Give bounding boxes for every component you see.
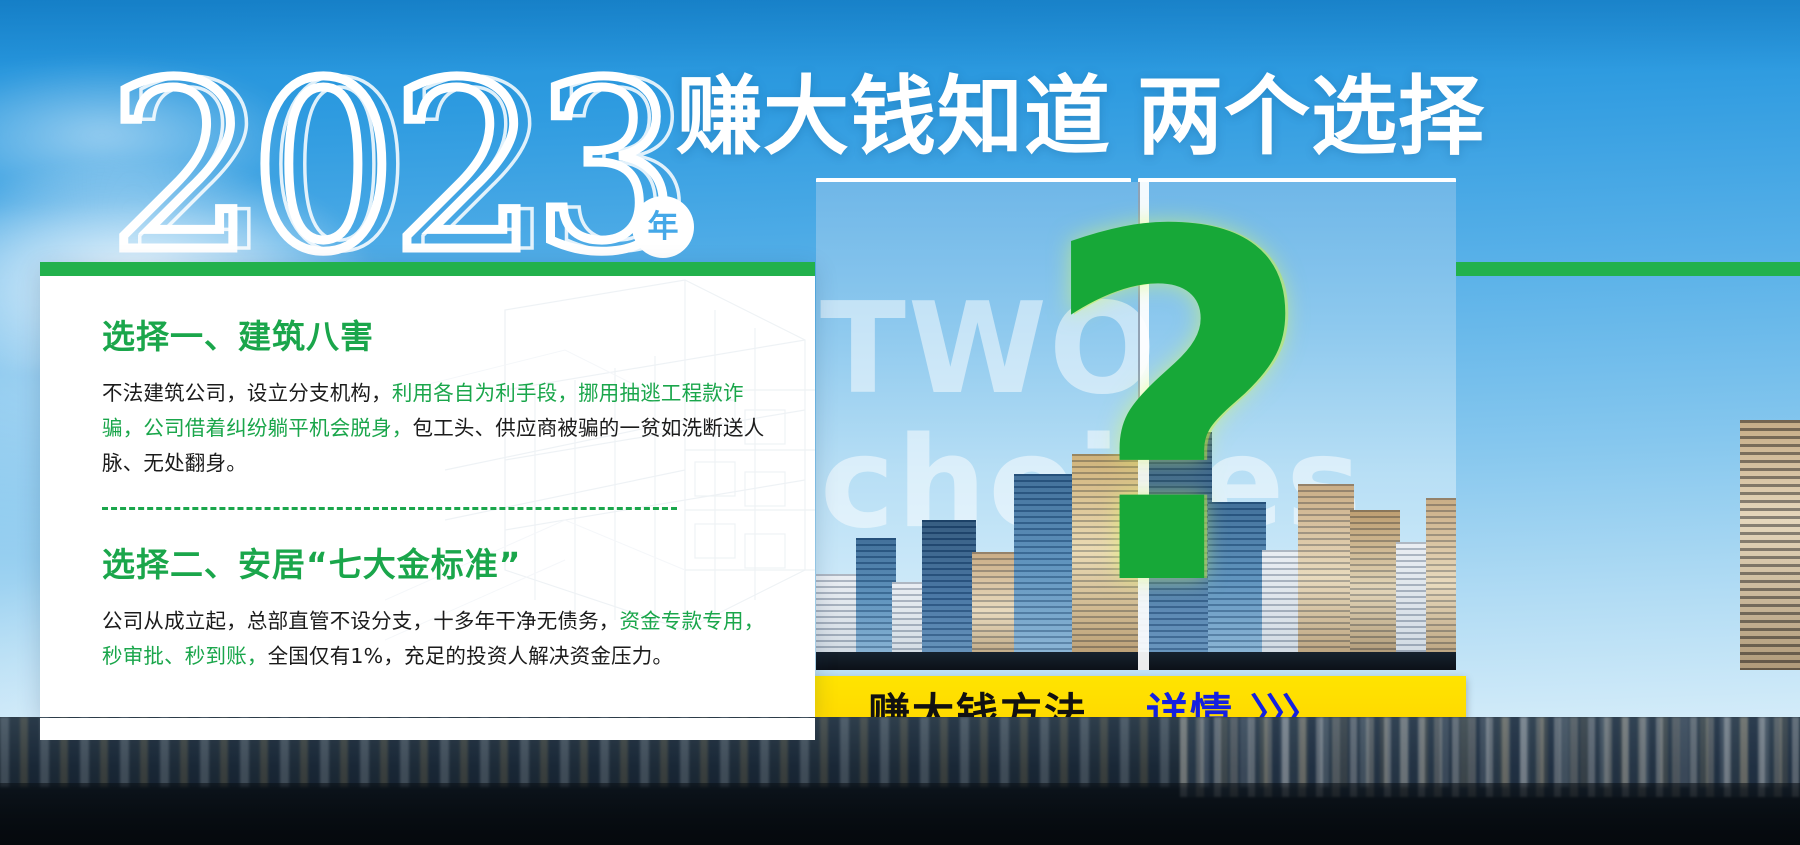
section-two-part-1: 公司从成立起，总部直管不设分支，十多年干净无债务， xyxy=(102,609,620,633)
question-mark-icon: ? xyxy=(1038,192,1316,634)
content-card: 选择一、建筑八害 不法建筑公司，设立分支机构，利用各自为利手段，挪用抽逃工程款诈… xyxy=(40,262,815,718)
city-photo-panel: TWO choices ? xyxy=(816,182,1456,670)
right-edge-building xyxy=(1740,420,1800,670)
strip-dark-gradient xyxy=(0,783,1800,845)
year-suffix-badge: 年 xyxy=(632,196,694,258)
section-one-body: 不法建筑公司，设立分支机构，利用各自为利手段，挪用抽逃工程款诈骗，公司借着纠纷躺… xyxy=(102,376,775,481)
page-title: 赚大钱知道两个选择 xyxy=(676,72,1485,163)
section-two-body: 公司从成立起，总部直管不设分支，十多年干净无债务，资金专款专用，秒审批、秒到账，… xyxy=(102,604,775,674)
card-bottom-extension xyxy=(40,718,815,740)
section-two-title: 选择二、安居“七大金标准” xyxy=(102,538,775,586)
section-two-part-3: 全国仅有1%，充足的投资人解决资金压力。 xyxy=(268,644,674,668)
year-2023: 2023 2023 xyxy=(108,62,708,277)
headline-right: 两个选择 xyxy=(1137,67,1485,167)
section-one-title: 选择一、建筑八害 xyxy=(102,310,775,358)
section-divider xyxy=(102,507,677,510)
card-content: 选择一、建筑八害 不法建筑公司，设立分支机构，利用各自为利手段，挪用抽逃工程款诈… xyxy=(40,262,815,674)
poster-canvas: 2023 2023 年 赚大钱知道两个选择 TWO choices xyxy=(0,0,1800,845)
headline-left: 赚大钱知道 xyxy=(676,67,1111,167)
section-one-part-1: 不法建筑公司，设立分支机构， xyxy=(102,381,392,405)
green-accent-strip xyxy=(1456,262,1800,276)
